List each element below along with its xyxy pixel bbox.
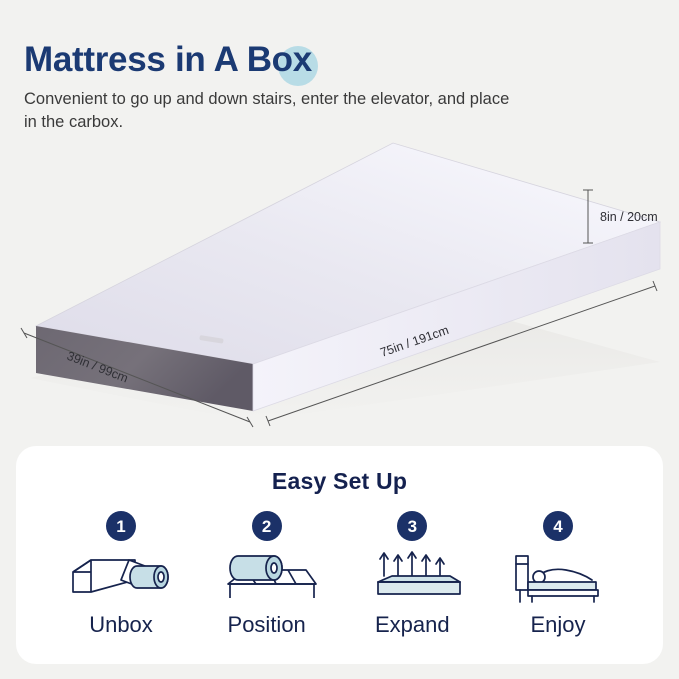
box-with-rolled-mattress-icon xyxy=(69,546,173,608)
rolled-mattress-on-bed-icon xyxy=(212,546,322,608)
mattress-box-illustration: 8in / 20cm 75in / 191cm 39in / 99cm xyxy=(0,130,679,435)
step-label: Unbox xyxy=(89,614,153,636)
dimension-height-label: 8in / 20cm xyxy=(600,210,658,224)
easy-setup-card: Easy Set Up 1 xyxy=(16,446,663,664)
setup-step-expand: 3 xyxy=(341,511,483,636)
setup-steps-list: 1 xyxy=(16,495,663,636)
setup-step-enjoy: 4 xyxy=(487,511,629,636)
mattress-expanding-arrows-icon xyxy=(360,546,464,608)
setup-step-unbox: 1 xyxy=(50,511,192,636)
person-sleeping-on-bed-icon xyxy=(506,546,610,608)
page-title-wrap: Mattress in A Box xyxy=(24,42,312,79)
step-number-badge: 2 xyxy=(252,511,282,541)
setup-step-position: 2 xyxy=(196,511,338,636)
step-label: Expand xyxy=(375,614,450,636)
step-label: Enjoy xyxy=(530,614,585,636)
product-infographic: Mattress in A Box Convenient to go up an… xyxy=(0,0,679,679)
header: Mattress in A Box Convenient to go up an… xyxy=(24,42,644,135)
page-subtitle: Convenient to go up and down stairs, ent… xyxy=(24,88,524,135)
step-number-badge: 4 xyxy=(543,511,573,541)
step-number-badge: 3 xyxy=(397,511,427,541)
page-title: Mattress in A Box xyxy=(24,42,312,79)
step-number-badge: 1 xyxy=(106,511,136,541)
easy-setup-title: Easy Set Up xyxy=(16,468,663,495)
step-label: Position xyxy=(228,614,306,636)
